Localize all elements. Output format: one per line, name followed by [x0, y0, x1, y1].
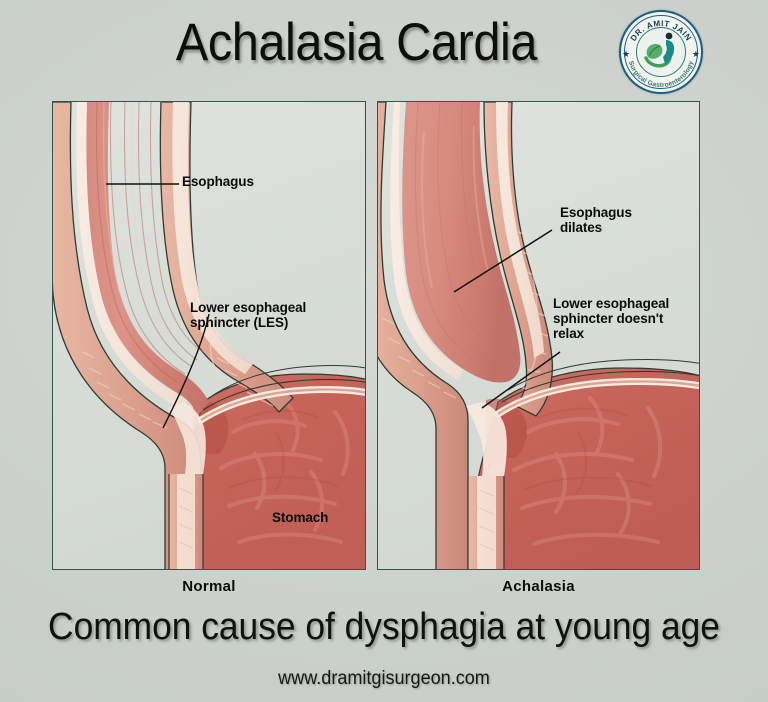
- diagram-panel-normal: [52, 101, 366, 570]
- caption-achalasia: Achalasia: [377, 578, 700, 595]
- label-esophagus-normal: Esophagus: [182, 174, 254, 189]
- poster-canvas: Achalasia Cardia ★ ★ DR. AMIT JAIN: [0, 0, 768, 702]
- label-les-doesnt-relax: Lower esophageal sphincter doesn't relax: [553, 296, 669, 341]
- caption-normal: Normal: [52, 578, 366, 595]
- label-lower-esophageal-sphincter: Lower esophageal sphincter (LES): [190, 300, 306, 330]
- normal-leader-lines: [53, 102, 366, 570]
- label-stomach: Stomach: [272, 510, 328, 525]
- tagline-text: Common cause of dysphagia at young age: [27, 606, 741, 649]
- website-url: www.dramitgisurgeon.com: [19, 668, 749, 690]
- emblem-shapes: [646, 33, 674, 66]
- leader-line-esophagus-dilates: [454, 230, 552, 292]
- leader-line-les-doesnt-relax: [482, 352, 560, 408]
- logo-graphics: DR. AMIT JAIN Surgical Gastroenterology: [619, 10, 703, 94]
- logo-top-text: DR. AMIT JAIN: [629, 19, 694, 43]
- svg-text:DR. AMIT JAIN: DR. AMIT JAIN: [629, 19, 694, 43]
- label-esophagus-dilates: Esophagus dilates: [560, 205, 632, 235]
- clinic-logo: ★ ★ DR. AMIT JAIN Surgical Gastroenterol…: [619, 10, 703, 94]
- leader-line-les: [163, 314, 209, 428]
